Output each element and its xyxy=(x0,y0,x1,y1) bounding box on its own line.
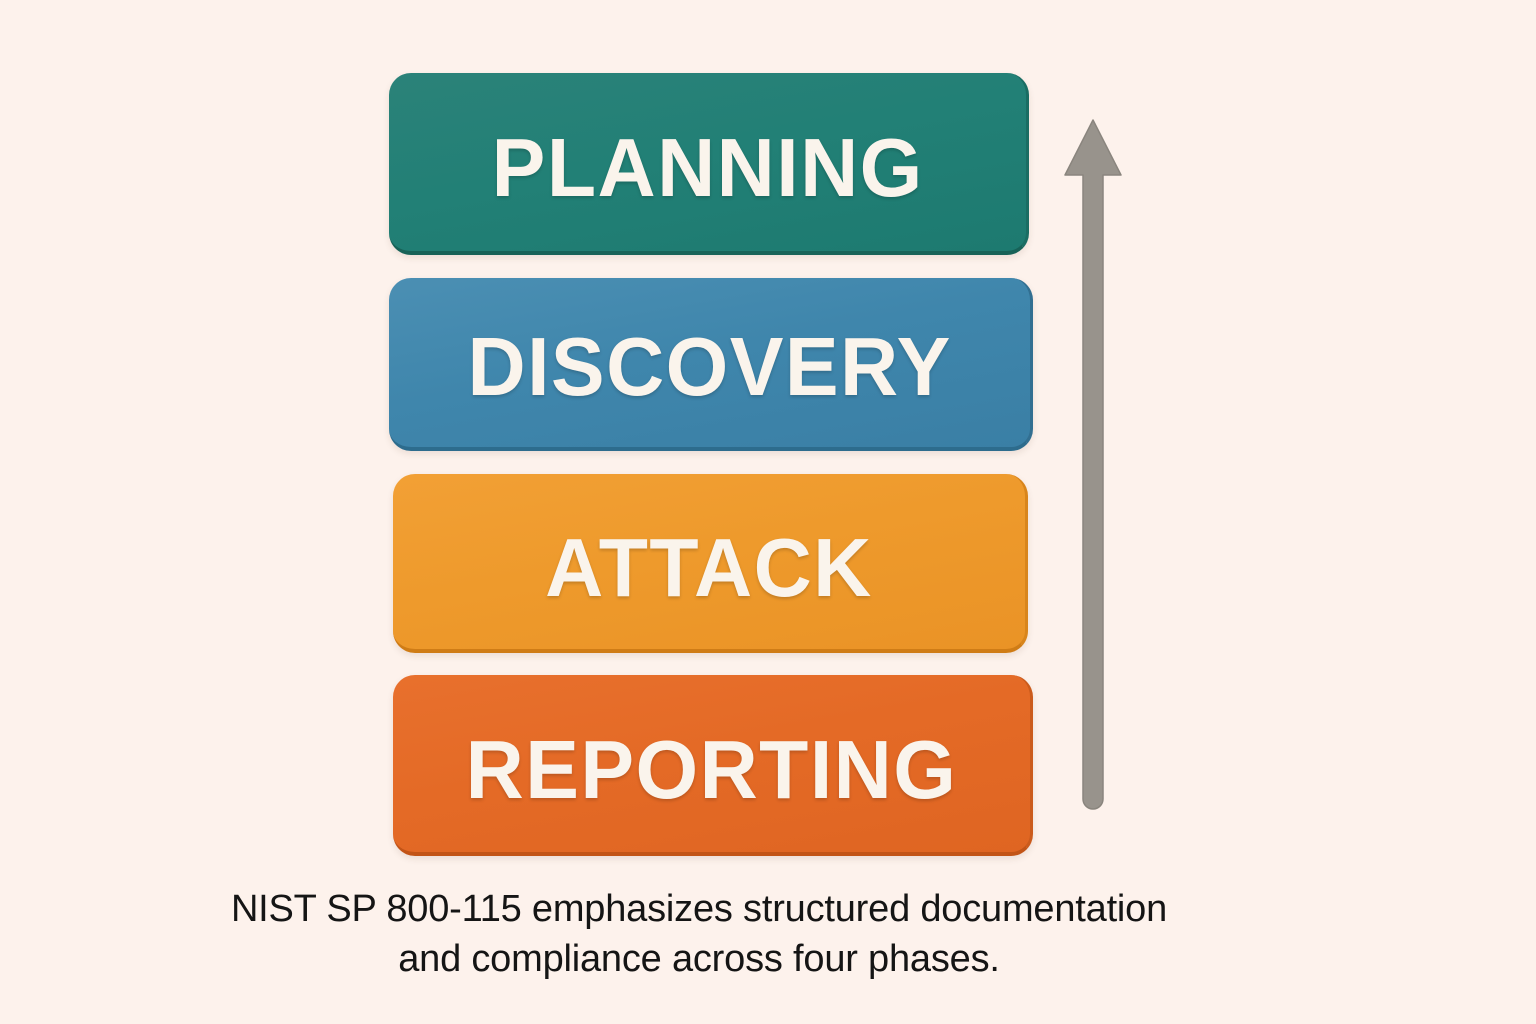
diagram-caption: NIST SP 800-115 emphasizes structured do… xyxy=(0,884,1398,984)
phase-box-planning[interactable]: PLANNING xyxy=(389,73,1029,255)
diagram-canvas: PLANNING DISCOVERY ATTACK REPORTING NIST… xyxy=(0,0,1536,1024)
phase-box-reporting[interactable]: REPORTING xyxy=(393,675,1033,856)
phase-label-reporting: REPORTING xyxy=(466,716,958,811)
upward-progress-arrow-icon xyxy=(1055,112,1131,818)
caption-line-1: NIST SP 800-115 emphasizes structured do… xyxy=(0,884,1398,934)
caption-line-2: and compliance across four phases. xyxy=(0,934,1398,984)
phase-box-attack[interactable]: ATTACK xyxy=(393,474,1028,653)
phase-label-planning: PLANNING xyxy=(491,116,923,209)
phase-box-discovery[interactable]: DISCOVERY xyxy=(389,278,1033,451)
phase-label-discovery: DISCOVERY xyxy=(467,317,951,408)
phase-label-attack: ATTACK xyxy=(545,514,873,609)
